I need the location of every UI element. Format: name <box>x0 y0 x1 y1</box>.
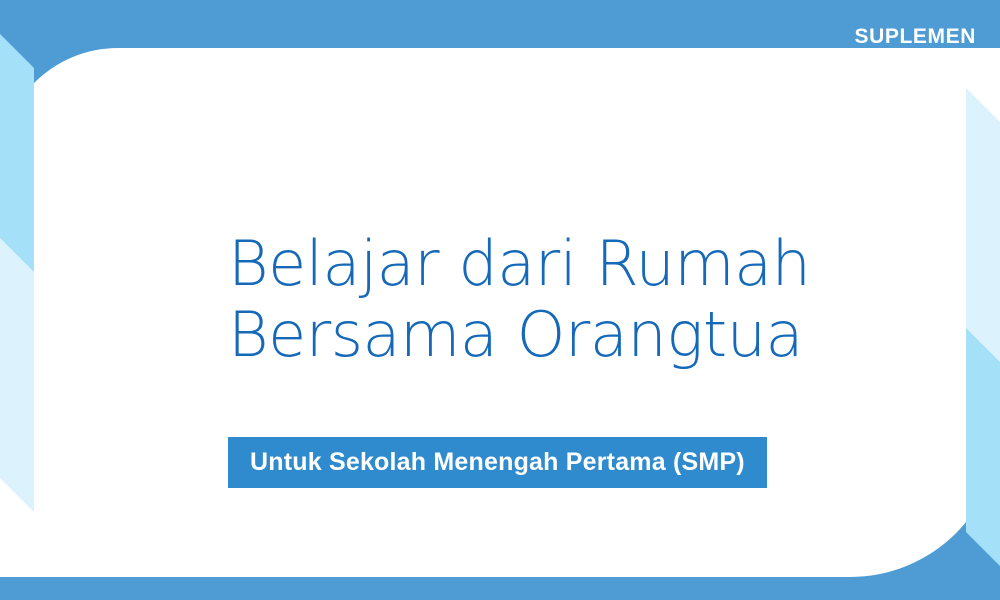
page-title-line-2: Bersama Orangtua <box>228 299 810 371</box>
slide-canvas: SUPLEMEN Belajar dari Rumah Bersama Oran… <box>0 0 1000 600</box>
section-label-suplemen: SUPLEMEN <box>855 26 976 47</box>
bottom-accent-bar <box>0 577 1000 600</box>
page-title-line-1: Belajar dari Rumah <box>228 228 810 300</box>
decorative-stripes-right <box>966 0 1000 600</box>
page-title: Belajar dari Rumah Bersama Orangtua <box>228 228 810 372</box>
subtitle-badge: Untuk Sekolah Menengah Pertama (SMP) <box>228 437 767 488</box>
title-block: Belajar dari Rumah Bersama Orangtua Untu… <box>228 186 810 488</box>
decorative-stripes-left <box>0 0 34 600</box>
